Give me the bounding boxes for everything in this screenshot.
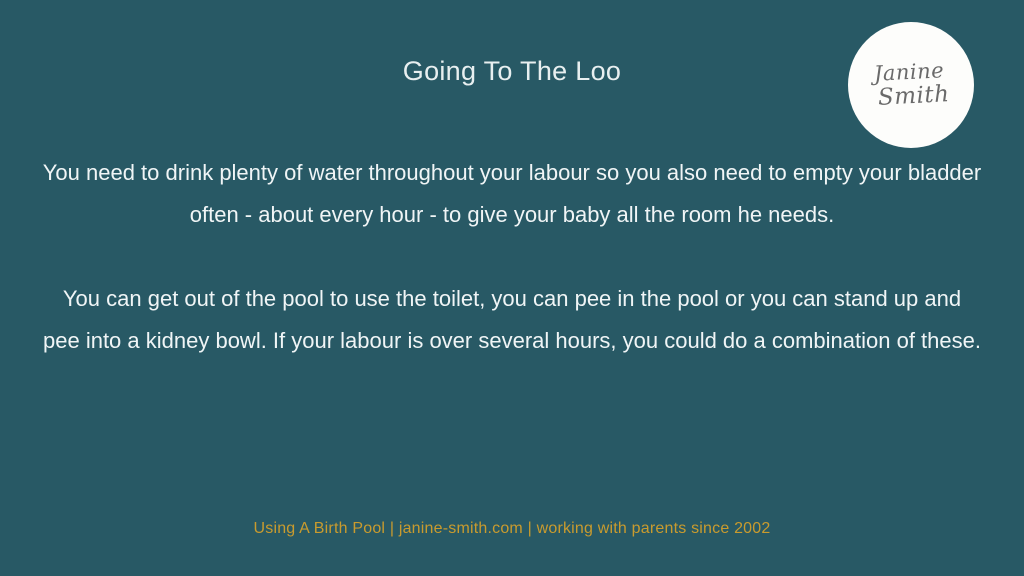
- footer-attribution: Using A Birth Pool | janine-smith.com | …: [0, 519, 1024, 540]
- slide-canvas: Janine Smith Going To The Loo You need t…: [0, 0, 1024, 576]
- body-paragraph: You can get out of the pool to use the t…: [42, 278, 982, 362]
- body-paragraph: You need to drink plenty of water throug…: [42, 152, 982, 236]
- slide-body-copy: You need to drink plenty of water throug…: [42, 152, 982, 362]
- slide-title: Going To The Loo: [0, 55, 1024, 87]
